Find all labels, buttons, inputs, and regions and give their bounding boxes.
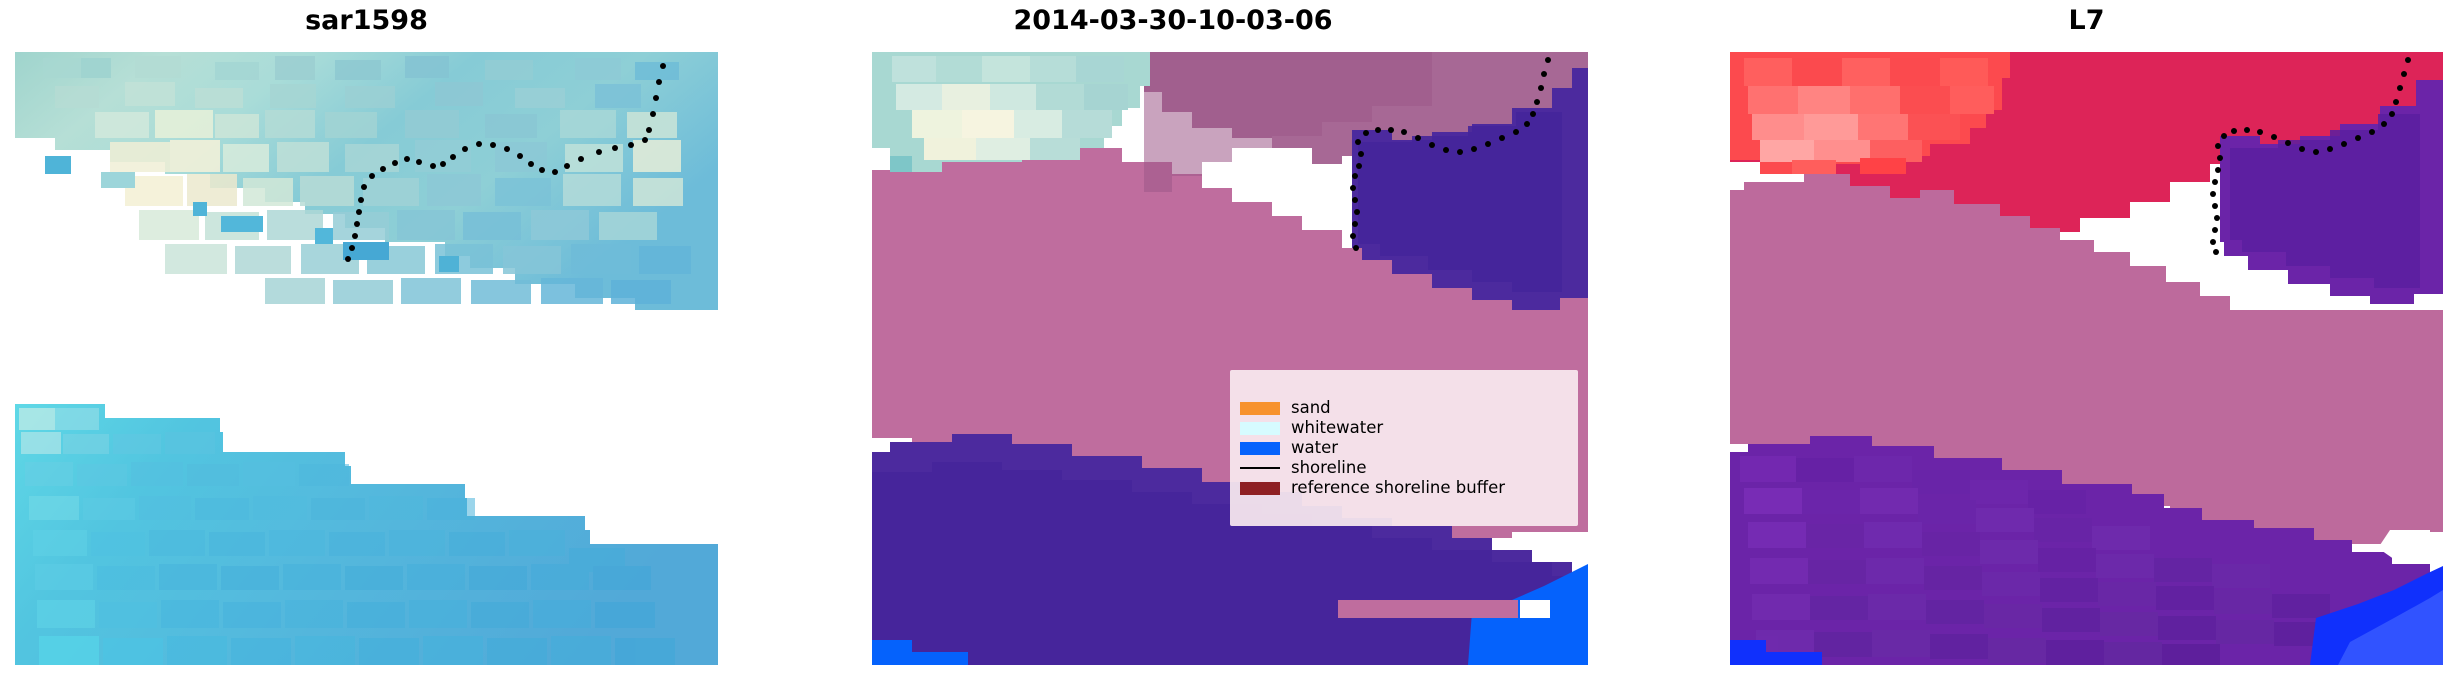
- legend: sand whitewater water shoreline referenc…: [1230, 370, 1578, 526]
- figure-root: sar1598: [0, 0, 2460, 682]
- axes-sar1598: [15, 52, 718, 665]
- panel-title-l7: L7: [1730, 4, 2443, 38]
- raster-sar1598: [15, 52, 718, 665]
- panel-classified: 2014-03-30-10-03-06: [733, 0, 1613, 682]
- raster-classified: [872, 52, 1588, 665]
- legend-label-whitewater: whitewater: [1291, 418, 1383, 438]
- color-swatch-reference-shoreline-buffer: [1240, 482, 1280, 495]
- legend-label-water: water: [1291, 438, 1338, 458]
- panel-sar1598: sar1598: [0, 0, 733, 682]
- legend-label-shoreline: shoreline: [1291, 458, 1367, 478]
- panel-l7: L7: [1613, 0, 2460, 682]
- axes-l7: [1730, 52, 2443, 665]
- legend-item-whitewater: whitewater: [1240, 418, 1567, 438]
- axes-classified: [872, 52, 1588, 665]
- line-swatch-shoreline: [1240, 462, 1280, 475]
- raster-l7: [1730, 52, 2443, 665]
- color-swatch-sand: [1240, 402, 1280, 415]
- legend-label-sand: sand: [1291, 398, 1331, 418]
- legend-item-sand: sand: [1240, 398, 1567, 418]
- legend-item-shoreline: shoreline: [1240, 458, 1567, 478]
- color-swatch-water: [1240, 442, 1280, 455]
- legend-item-water: water: [1240, 438, 1567, 458]
- legend-label-reference-shoreline-buffer: reference shoreline buffer: [1291, 478, 1505, 498]
- color-swatch-whitewater: [1240, 422, 1280, 435]
- legend-item-reference-shoreline-buffer: reference shoreline buffer: [1240, 478, 1567, 498]
